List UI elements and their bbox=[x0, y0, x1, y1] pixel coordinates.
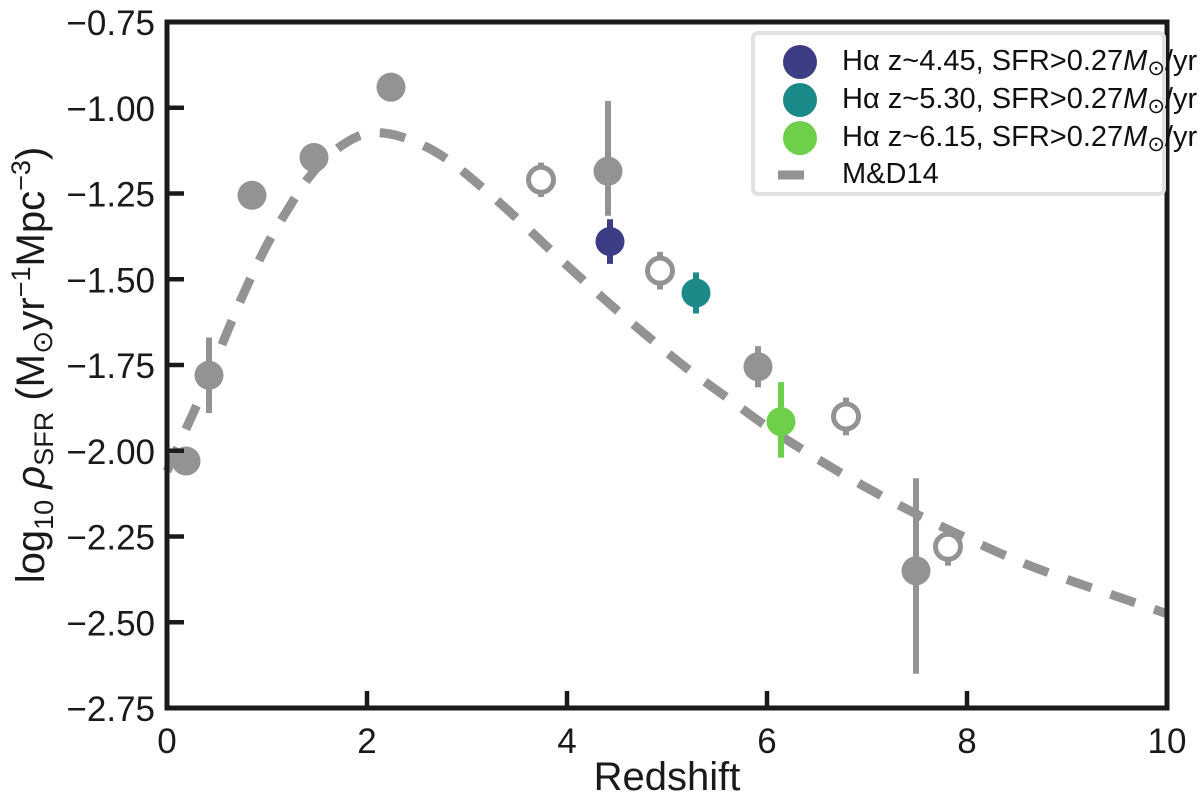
y-axis-label: log10 ρSFR (M⊙yr−1Mpc−3) bbox=[6, 147, 59, 584]
y-tick-label: −1.25 bbox=[66, 176, 155, 215]
ylabel-sun: ⊙ bbox=[27, 331, 58, 354]
data-point-filled bbox=[195, 361, 224, 390]
x-tick-label: 6 bbox=[757, 722, 776, 761]
data-point-filled bbox=[596, 227, 625, 256]
data-point-filled bbox=[238, 181, 267, 210]
ylabel-mpc: Mpc bbox=[9, 191, 53, 267]
x-tick-label: 10 bbox=[1148, 722, 1187, 761]
sfr-density-vs-redshift-chart: 0246810 −0.75−1.00−1.25−1.50−1.75−2.00−2… bbox=[0, 0, 1200, 811]
data-point-filled bbox=[594, 157, 623, 186]
legend-marker-circle bbox=[783, 121, 817, 155]
legend-entry-label: Hα z~5.30, SFR>0.27M⊙/yr bbox=[842, 83, 1197, 118]
y-tick-label: −2.50 bbox=[66, 604, 155, 643]
ylabel-rho-sub: SFR bbox=[29, 412, 59, 466]
ylabel-log-sub: 10 bbox=[29, 500, 59, 530]
chart-legend[interactable]: Hα z~4.45, SFR>0.27M⊙/yrHα z~5.30, SFR>0… bbox=[753, 33, 1197, 194]
legend-marker-circle bbox=[783, 45, 817, 79]
x-tick-label: 8 bbox=[957, 722, 976, 761]
data-point-filled bbox=[682, 278, 711, 307]
data-point-filled bbox=[744, 352, 773, 381]
data-point-open bbox=[529, 167, 554, 192]
y-tick-label: −2.75 bbox=[66, 690, 155, 729]
data-point-filled bbox=[300, 143, 329, 172]
ylabel-yr: yr bbox=[9, 297, 53, 330]
ylabel-paren-close: ) bbox=[9, 147, 53, 160]
x-tick-label: 4 bbox=[557, 722, 576, 761]
data-point-filled bbox=[902, 556, 931, 585]
y-tick-label: −2.25 bbox=[66, 519, 155, 558]
ylabel-paren-open: (M bbox=[9, 354, 53, 401]
x-tick-label: 0 bbox=[157, 722, 176, 761]
figure-root: 0246810 −0.75−1.00−1.25−1.50−1.75−2.00−2… bbox=[0, 0, 1200, 811]
ylabel-log: log bbox=[9, 530, 53, 583]
y-tick-label: −0.75 bbox=[66, 4, 155, 43]
y-tick-label: −1.50 bbox=[66, 261, 155, 300]
data-point-open bbox=[648, 258, 673, 283]
y-tick-label: −1.00 bbox=[66, 90, 155, 129]
data-point-filled bbox=[377, 73, 406, 102]
ylabel-yr-exp: −1 bbox=[6, 266, 36, 297]
legend-entry-label: M&D14 bbox=[842, 158, 939, 190]
ylabel-rho: ρ bbox=[9, 466, 53, 490]
data-point-filled bbox=[767, 407, 796, 436]
x-axis-label: Redshift bbox=[594, 755, 741, 799]
ylabel-mpc-exp: −3 bbox=[6, 160, 36, 191]
legend-marker-circle bbox=[783, 83, 817, 117]
y-tick-label: −1.75 bbox=[66, 347, 155, 386]
x-tick-label: 2 bbox=[357, 722, 376, 761]
y-tick-label: −2.00 bbox=[66, 433, 155, 472]
legend-entry-label: Hα z~4.45, SFR>0.27M⊙/yr bbox=[842, 45, 1197, 80]
data-point-open bbox=[936, 534, 961, 559]
svg-text:log10 ρSFR (M⊙yr−1Mpc−3): log10 ρSFR (M⊙yr−1Mpc−3) bbox=[6, 147, 59, 584]
data-point-open bbox=[834, 404, 859, 429]
legend-entry-label: Hα z~6.15, SFR>0.27M⊙/yr bbox=[842, 121, 1197, 156]
